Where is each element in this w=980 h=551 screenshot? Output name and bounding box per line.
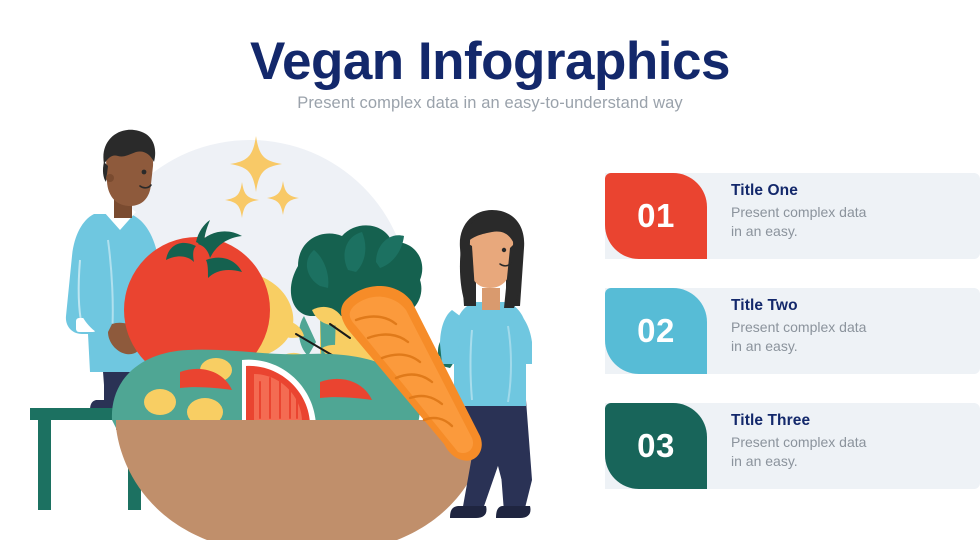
card-title: Title One <box>731 182 980 200</box>
card-title: Title Three <box>731 412 980 430</box>
card-title: Title Two <box>731 297 980 315</box>
info-card-list: 01 Title One Present complex data in an … <box>605 173 980 483</box>
card-body: Title One Present complex data in an eas… <box>707 173 980 259</box>
info-card[interactable]: 02 Title Two Present complex data in an … <box>605 288 980 374</box>
bowl-icon <box>116 420 488 540</box>
card-body: Title Two Present complex data in an eas… <box>707 288 980 374</box>
card-number-badge: 02 <box>605 288 707 374</box>
page-title: Vegan Infographics <box>0 34 980 90</box>
info-card[interactable]: 01 Title One Present complex data in an … <box>605 173 980 259</box>
page-subtitle: Present complex data in an easy-to-under… <box>0 94 980 113</box>
card-number-badge: 03 <box>605 403 707 489</box>
slide-canvas: Vegan Infographics Present complex data … <box>0 0 980 551</box>
card-body: Title Three Present complex data in an e… <box>707 403 980 489</box>
header: Vegan Infographics Present complex data … <box>0 34 980 113</box>
vegan-bowl-illustration <box>20 120 600 540</box>
card-description: Present complex data in an easy. <box>731 203 980 240</box>
info-card[interactable]: 03 Title Three Present complex data in a… <box>605 403 980 489</box>
card-number-badge: 01 <box>605 173 707 259</box>
card-description: Present complex data in an easy. <box>731 433 980 470</box>
card-description: Present complex data in an easy. <box>731 318 980 355</box>
